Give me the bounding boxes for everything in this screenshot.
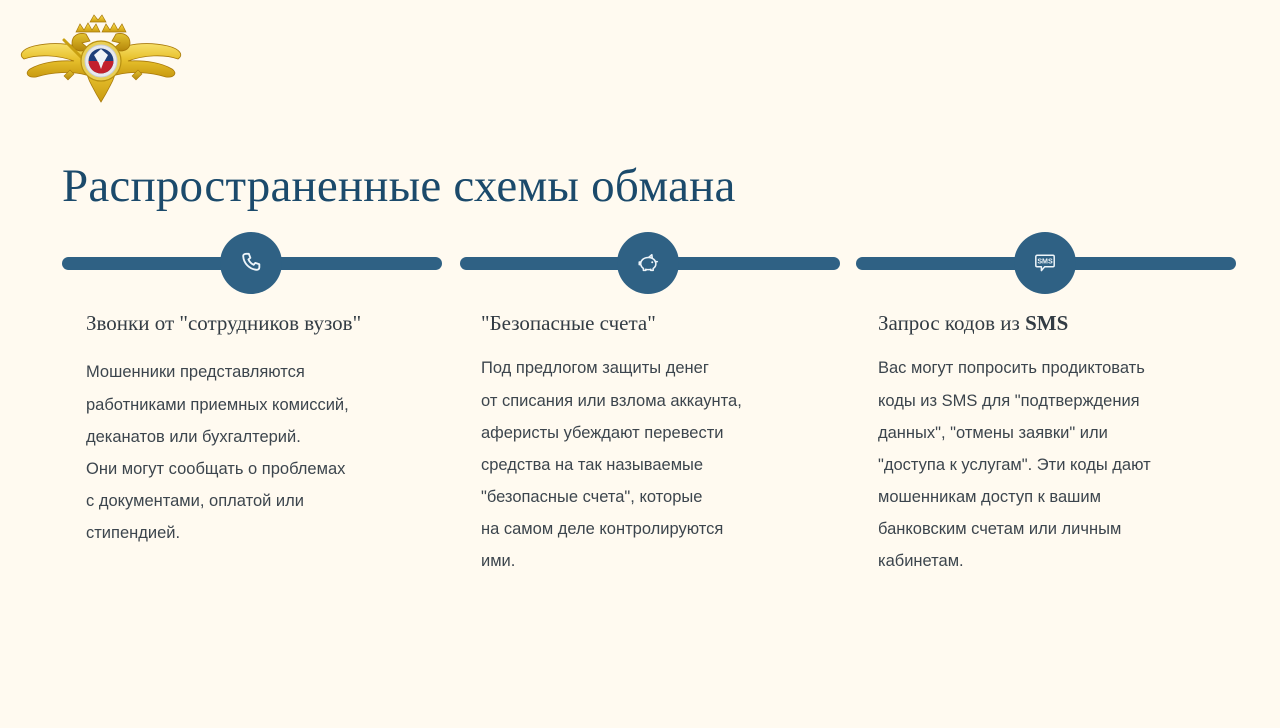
piggy-bank-icon	[635, 250, 662, 277]
scheme-heading-3-emphasis: SMS	[1025, 311, 1068, 335]
scheme-column-1: Звонки от "сотрудников вузов" Мошенники …	[86, 308, 416, 549]
mvd-emblem	[12, 14, 190, 114]
timeline-node-3: SMS	[1014, 232, 1076, 294]
scheme-column-2: "Безопасные счета" Под предлогом защиты …	[481, 308, 811, 578]
scheme-body-1: Мошенники представляются работниками при…	[86, 356, 416, 549]
timeline-node-1	[220, 232, 282, 294]
scheme-body-2: Под предлогом защиты денег от списания и…	[481, 352, 811, 577]
sms-icon-label: SMS	[1037, 257, 1053, 265]
scheme-heading-3: Запрос кодов из SMS	[878, 308, 1208, 338]
phone-icon	[238, 250, 264, 276]
scheme-heading-1: Звонки от "сотрудников вузов"	[86, 308, 416, 338]
sms-bubble-icon: SMS	[1031, 249, 1059, 277]
scheme-body-3: Вас могут попросить продиктовать коды из…	[878, 352, 1208, 577]
scheme-heading-3-prefix: Запрос кодов из	[878, 311, 1025, 335]
scheme-heading-2: "Безопасные счета"	[481, 308, 811, 338]
timeline-node-2	[617, 232, 679, 294]
slide-root: Распространенные схемы обмана	[0, 0, 1280, 728]
page-title: Распространенные схемы обмана	[62, 159, 736, 213]
timeline: SMS	[0, 232, 1280, 294]
scheme-column-3: Запрос кодов из SMS Вас могут попросить …	[878, 308, 1208, 578]
